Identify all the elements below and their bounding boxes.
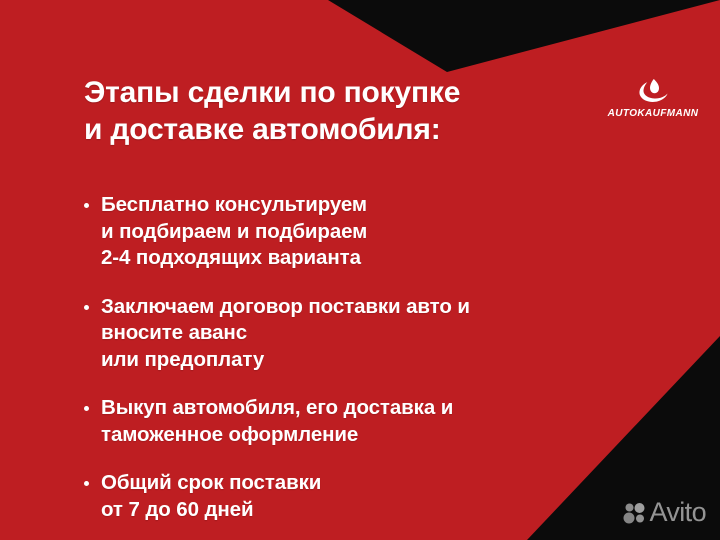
bullet-dot-icon xyxy=(84,305,89,310)
list-item-label: Выкуп автомобиля, его доставка и таможен… xyxy=(101,395,453,448)
flame-swoosh-icon xyxy=(638,79,668,106)
avito-watermark: Avito xyxy=(623,499,706,526)
bullet-dot-icon xyxy=(84,481,89,486)
brand-logo: AUTOKAUFMANN xyxy=(594,79,712,119)
list-item-label: Бесплатно консультируем и подбираем и по… xyxy=(101,192,367,272)
steps-list: Бесплатно консультируем и подбираем и по… xyxy=(84,192,624,523)
avito-dots-icon xyxy=(623,502,645,524)
bullet-dot-icon xyxy=(84,406,89,411)
list-item: Общий срок поставки от 7 до 60 дней xyxy=(84,470,624,523)
bullet-dot-icon xyxy=(84,203,89,208)
avito-wordmark: Avito xyxy=(649,499,706,526)
list-item-label: Общий срок поставки от 7 до 60 дней xyxy=(101,470,321,523)
list-item: Бесплатно консультируем и подбираем и по… xyxy=(84,192,624,272)
list-item-label: Заключаем договор поставки авто и вносит… xyxy=(101,294,470,374)
list-item: Заключаем договор поставки авто и вносит… xyxy=(84,294,624,374)
brand-name-label: AUTOKAUFMANN xyxy=(608,108,699,119)
promo-banner: Этапы сделки по покупке и доставке автом… xyxy=(0,0,720,540)
page-title: Этапы сделки по покупке и доставке автом… xyxy=(84,74,614,148)
list-item: Выкуп автомобиля, его доставка и таможен… xyxy=(84,395,624,448)
